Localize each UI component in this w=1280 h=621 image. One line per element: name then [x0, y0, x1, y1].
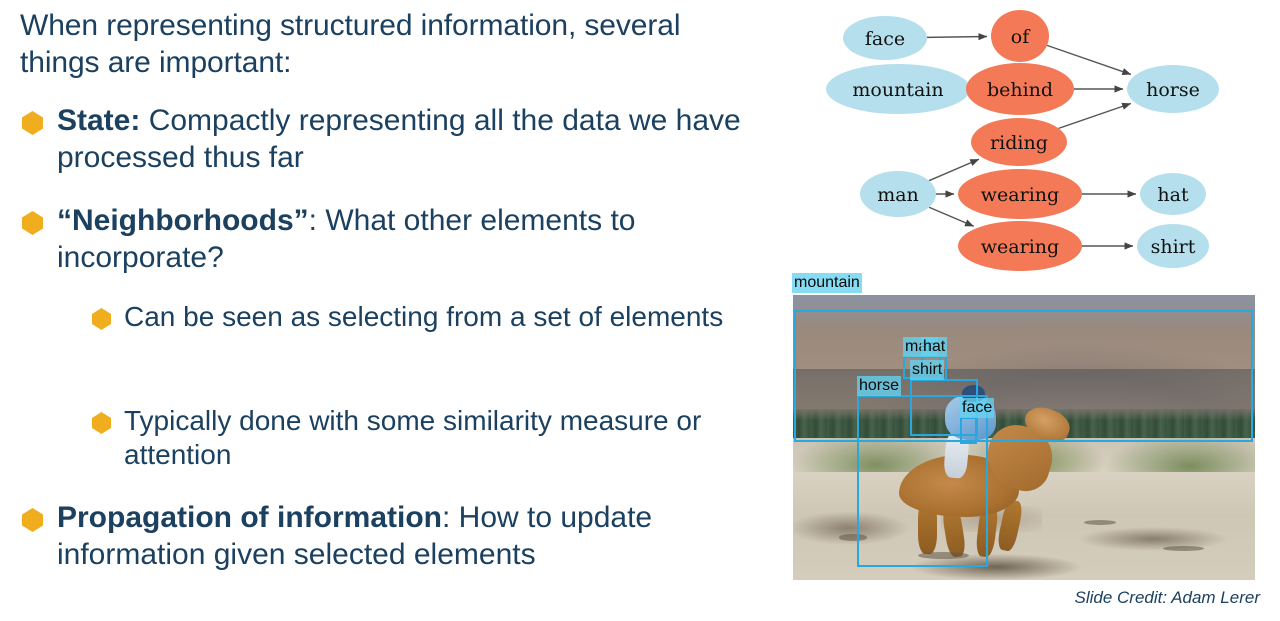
lead-paragraph: When representing structured information… [20, 8, 740, 81]
slide-credit: Slide Credit: Adam Lerer [770, 588, 1260, 608]
hexagon-bullet-icon [92, 308, 111, 330]
graph-node-man: man [860, 171, 936, 217]
graph-node-mountain: mountain [826, 64, 970, 114]
graph-edge-man-to-wearing2 [929, 207, 974, 226]
graph-node-label: face [865, 28, 905, 50]
bullet-item-propagation: Propagation of information: How to updat… [22, 500, 752, 573]
scene-graph-nodes: faceofmountainbehindhorseridingmanwearin… [826, 10, 1219, 271]
bullet-rest: Compactly representing all the data we h… [57, 104, 741, 174]
hexagon-bullet-icon [92, 412, 111, 434]
graph-node-face: face [843, 16, 927, 60]
bullet-item-neighborhoods: “Neighborhoods”: What other elements to … [22, 203, 752, 276]
graph-node-horse: horse [1127, 65, 1219, 113]
bullet-bold-lead: Propagation of information [57, 501, 442, 534]
bullet-text: State: Compactly representing all the da… [57, 103, 752, 176]
bullet-text: Typically done with some similarity meas… [124, 404, 752, 472]
graph-node-label: shirt [1151, 236, 1196, 258]
graph-node-of: of [991, 10, 1049, 62]
slide-canvas: When representing structured information… [0, 0, 1280, 621]
hexagon-bullet-icon [22, 508, 43, 532]
scene-graph-svg: faceofmountainbehindhorseridingmanwearin… [770, 0, 1280, 275]
graph-edge-riding-to-horse [1059, 104, 1131, 129]
bounding-box-label-hat: hat [921, 337, 947, 357]
bounding-box-label-face: face [960, 398, 994, 418]
sand-debris [839, 534, 867, 540]
slide-text-column: When representing structured information… [0, 0, 770, 621]
bounding-box-label-mountain: mountain [792, 273, 862, 293]
bullet-item-similarity: Typically done with some similarity meas… [92, 404, 752, 472]
graph-node-label: riding [990, 132, 1048, 154]
graph-node-label: horse [1146, 79, 1200, 101]
photo-image [793, 295, 1255, 580]
graph-node-label: wearing [981, 236, 1059, 258]
bullet-text: Propagation of information: How to updat… [57, 500, 752, 573]
bounding-box-label-shirt: shirt [910, 360, 944, 380]
bullet-bold-lead: State: [57, 104, 140, 137]
bullet-item-selecting: Can be seen as selecting from a set of e… [92, 300, 752, 334]
graph-node-label: of [1011, 26, 1031, 48]
graph-edge-of-to-horse [1047, 45, 1131, 74]
graph-node-label: wearing [981, 184, 1059, 206]
graph-node-riding: riding [971, 118, 1067, 166]
scene-graph-diagram: faceofmountainbehindhorseridingmanwearin… [770, 0, 1280, 275]
bullet-text: Can be seen as selecting from a set of e… [124, 300, 752, 334]
graph-node-label: man [877, 184, 919, 206]
bullet-bold-lead: “Neighborhoods” [57, 204, 309, 237]
bullet-item-state: State: Compactly representing all the da… [22, 103, 752, 176]
hexagon-bullet-icon [22, 111, 43, 135]
graph-edge-face-to-of [927, 36, 987, 37]
graph-node-wearing2: wearing [958, 221, 1082, 271]
graph-node-label: behind [987, 79, 1053, 101]
annotated-photo: mountainmanhatshirthorseface [793, 295, 1255, 580]
graph-node-label: hat [1157, 184, 1189, 206]
bullet-text: “Neighborhoods”: What other elements to … [57, 203, 752, 276]
graph-edge-man-to-riding [929, 159, 979, 180]
graph-node-label: mountain [852, 79, 943, 101]
graph-node-behind: behind [966, 63, 1074, 115]
graph-node-shirt: shirt [1137, 224, 1209, 268]
bounding-box-label-horse: horse [857, 376, 901, 396]
graph-node-hat: hat [1140, 173, 1206, 215]
hexagon-bullet-icon [22, 211, 43, 235]
sand-debris [918, 552, 969, 559]
slide-figure-column: faceofmountainbehindhorseridingmanwearin… [770, 0, 1280, 621]
graph-node-wearing1: wearing [958, 169, 1082, 219]
